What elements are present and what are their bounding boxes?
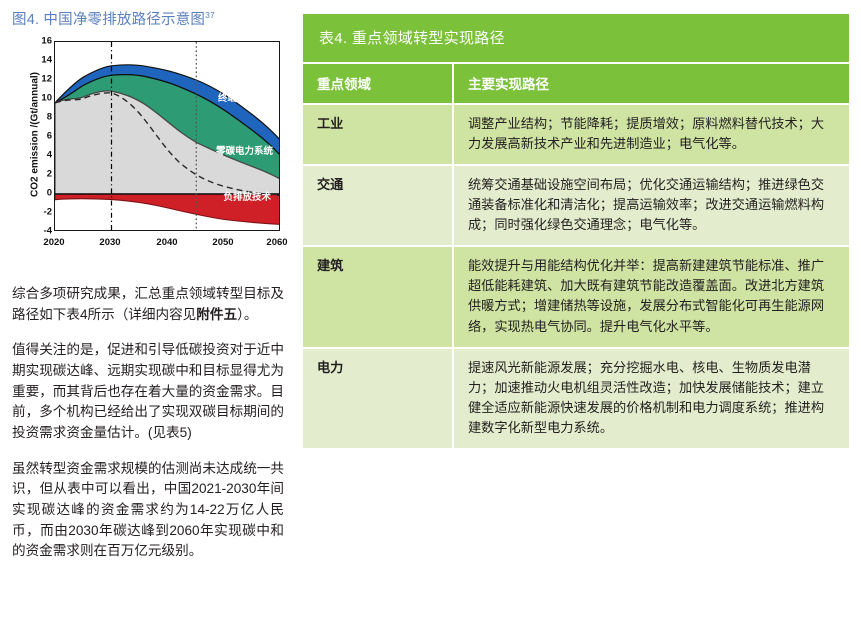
- key-sector-pathway-table: 重点领域 主要实现路径 工业 调整产业结构；节能降耗；提质增效；原料燃料替代技术…: [303, 62, 849, 448]
- para1-part3: ）。: [237, 307, 257, 322]
- emission-pathway-chart: CO2 emission /(Gt/annual) 16 14 12 10 8 …: [12, 37, 284, 262]
- y-tick-4: 4: [22, 149, 52, 160]
- table-row: 电力 提速风光新能源发展；充分挖掘水电、核电、生物质发电潜力；加速推动火电机组灵…: [303, 348, 849, 448]
- area-negative-red: [55, 194, 280, 224]
- x-tick-2020: 2020: [34, 237, 74, 248]
- row-sector-building: 建筑: [303, 246, 453, 347]
- paragraph-scale: 虽然转型资金需求规模的估测尚未达成统一共识，但从表中可以看出，中国2021-20…: [12, 459, 284, 562]
- y-tick-12: 12: [22, 73, 52, 84]
- x-tick-2060: 2060: [257, 237, 297, 248]
- left-column: 图4. 中国净零排放路径示意图37 CO2 emission /(Gt/annu…: [12, 10, 284, 630]
- row-pathway-building: 能效提升与用能结构优化并举：提高新建建筑节能标准、推广超低能耗建筑、加大既有建筑…: [453, 246, 849, 347]
- paragraph-summary: 综合多项研究成果，汇总重点领域转型目标及路径如下表4所示（详细内容见附件五）。: [12, 284, 284, 325]
- table-header-row: 重点领域 主要实现路径: [303, 63, 849, 104]
- table-row: 建筑 能效提升与用能结构优化并举：提高新建建筑节能标准、推广超低能耗建筑、加大既…: [303, 246, 849, 347]
- row-pathway-industry: 调整产业结构；节能降耗；提质增效；原料燃料替代技术；大力发展高新技术产业和先进制…: [453, 104, 849, 165]
- row-sector-transport: 交通: [303, 165, 453, 246]
- row-pathway-transport: 统筹交通基础设施空间布局；优化交通运输结构；推进绿色交通装备标准化和清洁化；提高…: [453, 165, 849, 246]
- table-title: 表4. 重点领域转型实现路径: [303, 14, 849, 62]
- y-tick-10: 10: [22, 92, 52, 103]
- figure-caption-text: 图4. 中国净零排放路径示意图: [12, 12, 205, 28]
- x-tick-2030: 2030: [90, 237, 130, 248]
- table-row: 交通 统筹交通基础设施空间布局；优化交通运输结构；推进绿色交通装备标准化和清洁化…: [303, 165, 849, 246]
- row-pathway-power: 提速风光新能源发展；充分挖掘水电、核电、生物质发电潜力；加速推动火电机组灵活性改…: [453, 348, 849, 448]
- row-sector-power: 电力: [303, 348, 453, 448]
- page-root: 图4. 中国净零排放路径示意图37 CO2 emission /(Gt/annu…: [0, 0, 861, 636]
- figure-caption: 图4. 中国净零排放路径示意图37: [12, 10, 284, 29]
- para1-bold-annex: 附件五: [196, 307, 237, 322]
- y-tick-14: 14: [22, 54, 52, 65]
- chart-plot-area: 低碳、零碳化 终端用能系统 零碳电力系统 负排放技术: [54, 41, 280, 231]
- row-sector-industry: 工业: [303, 104, 453, 165]
- y-tick-2: 2: [22, 168, 52, 179]
- table-row: 工业 调整产业结构；节能降耗；提质增效；原料燃料替代技术；大力发展高新技术产业和…: [303, 104, 849, 165]
- x-tick-2040: 2040: [147, 237, 187, 248]
- chart-svg: [55, 42, 280, 231]
- figure-footnote-marker: 37: [205, 10, 215, 20]
- column-header-sector: 重点领域: [303, 63, 453, 104]
- y-tick-8: 8: [22, 111, 52, 122]
- column-header-pathway: 主要实现路径: [453, 63, 849, 104]
- y-tick-6: 6: [22, 130, 52, 141]
- table-panel: 表4. 重点领域转型实现路径 重点领域 主要实现路径 工业 调整产业结构；节能降…: [303, 14, 849, 448]
- y-tick-neg2: -2: [22, 206, 52, 217]
- paragraph-investment: 值得关注的是，促进和引导低碳投资对于近中期实现碳达峰、远期实现碳中和目标显得尤为…: [12, 340, 284, 443]
- y-tick-16: 16: [22, 35, 52, 46]
- x-tick-2050: 2050: [203, 237, 243, 248]
- y-tick-neg4: -4: [22, 225, 52, 236]
- y-tick-0: 0: [22, 187, 52, 198]
